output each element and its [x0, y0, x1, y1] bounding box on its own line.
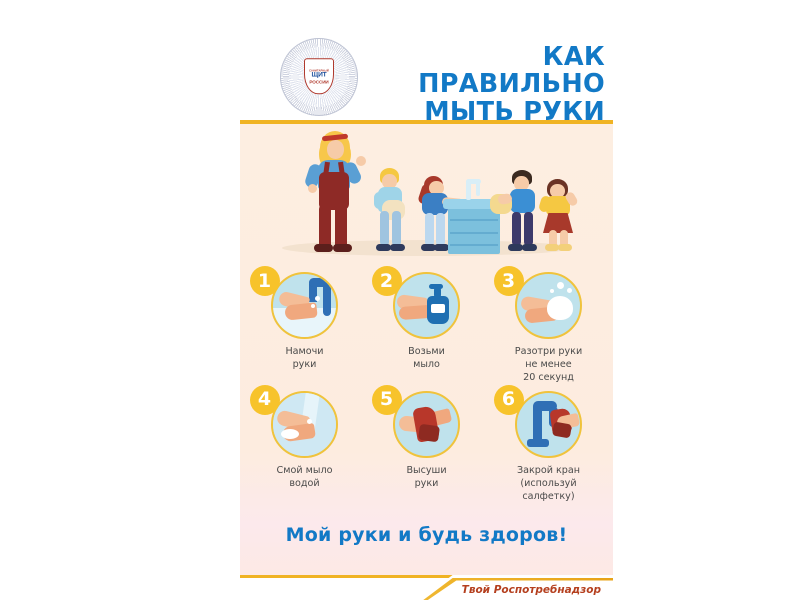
step-2-caption: Возьмимыло [408, 346, 445, 372]
shield-icon: САНИТАРНЫЙ ЩИТ РОССИИ [304, 58, 334, 94]
step-4: Смой мыловодой 4 [256, 391, 354, 504]
poster-body: Намочируки 1 Возьмимыло 2 [240, 120, 613, 579]
step-2: Возьмимыло 2 [378, 272, 476, 385]
rinse-hands-icon [271, 391, 338, 458]
steps-row-1: Намочируки 1 Возьмимыло 2 [240, 272, 613, 385]
sanitary-shield-emblem-icon: САНИТАРНЫЙ ЩИТ РОССИИ [280, 38, 358, 116]
hero-illustration [240, 124, 613, 272]
emblem-line-2: ЩИТ [312, 73, 327, 80]
step-6: Закрой кран(используйсалфетку) 6 [500, 391, 598, 504]
step-5-number: 5 [372, 385, 402, 415]
emblem-line-3: РОССИИ [309, 80, 328, 85]
step-3: Разотри рукине менее20 секунд 3 [500, 272, 598, 385]
step-5: Высушируки 5 [378, 391, 476, 504]
close-tap-with-napkin-icon [515, 391, 582, 458]
dry-hands-towel-icon [393, 391, 460, 458]
step-1-number: 1 [250, 266, 280, 296]
poster: САНИТАРНЫЙ ЩИТ РОССИИ КАК ПРАВИЛЬНО МЫТЬ… [240, 0, 613, 600]
poster-footer: Твой Роспотребнадзор [240, 575, 613, 600]
step-1-caption: Намочируки [285, 346, 323, 372]
step-2-number: 2 [372, 266, 402, 296]
poster-slogan: Мой руки и будь здоров! [240, 524, 613, 546]
step-6-number: 6 [494, 385, 524, 415]
poster-header: САНИТАРНЫЙ ЩИТ РОССИИ КАК ПРАВИЛЬНО МЫТЬ… [240, 0, 613, 120]
poster-title: КАК ПРАВИЛЬНО МЫТЬ РУКИ [360, 44, 605, 126]
step-1: Намочируки 1 [256, 272, 354, 385]
steps-row-2: Смой мыловодой 4 Высушируки 5 [240, 391, 613, 504]
step-4-number: 4 [250, 385, 280, 415]
footer-organization: Твой Роспотребнадзор [462, 584, 601, 596]
steps-grid: Намочируки 1 Возьмимыло 2 [240, 272, 613, 510]
title-line-1: КАК ПРАВИЛЬНО [418, 42, 605, 99]
step-5-caption: Высушируки [406, 465, 446, 491]
lather-hands-icon [515, 272, 582, 339]
step-3-number: 3 [494, 266, 524, 296]
step-4-caption: Смой мыловодой [277, 465, 333, 491]
wet-hands-under-tap-icon [271, 272, 338, 339]
step-3-caption: Разотри рукине менее20 секунд [515, 346, 582, 385]
step-6-caption: Закрой кран(используйсалфетку) [517, 465, 580, 504]
soap-dispenser-icon [393, 272, 460, 339]
